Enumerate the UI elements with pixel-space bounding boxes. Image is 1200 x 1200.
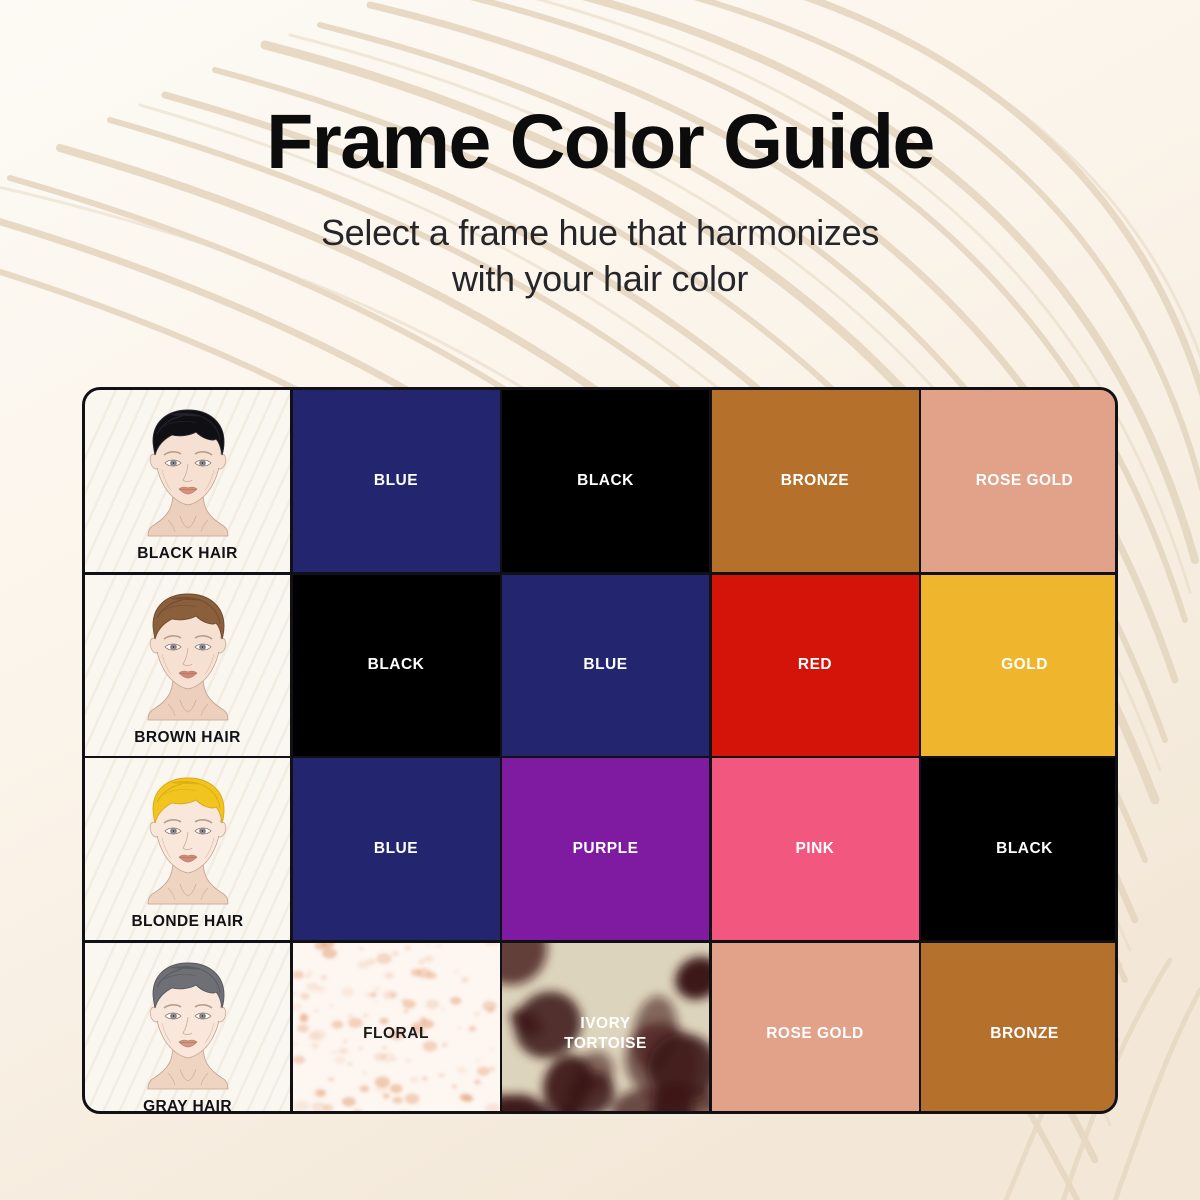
grid-body: BLACK HAIRBLUEBLACKBRONZEROSE GOLD (85, 390, 1115, 1111)
subtitle-line-1: Select a frame hue that harmonizes (321, 212, 879, 253)
hair-type-label: BROWN HAIR (134, 729, 240, 747)
frame-color-swatch-bronze[interactable]: BRONZE (712, 390, 919, 572)
swatch-label: BLUE (374, 839, 418, 858)
face-illustration (124, 772, 252, 911)
face-illustration (124, 588, 252, 727)
frame-color-swatch-ivory-tortoise[interactable]: IVORYTORTOISE (502, 943, 709, 1115)
face-illustration (124, 957, 252, 1096)
swatch-label: BLACK (577, 471, 634, 490)
swatch-label: BLUE (583, 655, 627, 674)
frame-color-swatch-purple[interactable]: PURPLE (502, 758, 709, 940)
swatch-label: BLUE (374, 471, 418, 490)
subtitle-line-2: with your hair color (452, 258, 748, 299)
swatch-label: IVORYTORTOISE (564, 1014, 647, 1053)
frame-color-swatch-gold[interactable]: GOLD (921, 575, 1118, 756)
swatch-label: ROSE GOLD (766, 1024, 864, 1043)
hair-type-label: GRAY HAIR (143, 1098, 232, 1115)
page-title: Frame Color Guide (0, 0, 1200, 181)
swatch-label: BLACK (368, 655, 425, 674)
frame-color-swatch-rose-gold[interactable]: ROSE GOLD (921, 390, 1118, 572)
frame-color-swatch-blue[interactable]: BLUE (293, 390, 500, 572)
page-subtitle: Select a frame hue that harmonizes with … (0, 181, 1200, 302)
swatch-label: RED (798, 655, 832, 674)
swatch-label: PINK (795, 839, 834, 858)
hair-type-label: BLONDE HAIR (131, 913, 243, 931)
hair-type-cell-black-hair: BLACK HAIR (85, 390, 290, 572)
swatch-label: PURPLE (573, 839, 639, 858)
face-illustration (124, 404, 252, 543)
swatch-label: FLORAL (363, 1024, 429, 1043)
frame-color-swatch-black[interactable]: BLACK (502, 390, 709, 572)
page-header: Frame Color Guide Select a frame hue tha… (0, 0, 1200, 302)
frame-color-swatch-floral[interactable]: FLORAL (293, 943, 500, 1115)
hair-type-cell-brown-hair: BROWN HAIR (85, 575, 290, 756)
swatch-label: BRONZE (990, 1024, 1058, 1043)
frame-color-swatch-blue[interactable]: BLUE (502, 575, 709, 756)
frame-color-guide-grid: BLACK HAIRBLUEBLACKBRONZEROSE GOLD (82, 387, 1118, 1114)
frame-color-swatch-black[interactable]: BLACK (293, 575, 500, 756)
hair-type-label: BLACK HAIR (137, 545, 237, 563)
frame-color-swatch-rose-gold[interactable]: ROSE GOLD (712, 943, 919, 1115)
frame-color-swatch-pink[interactable]: PINK (712, 758, 919, 940)
frame-color-swatch-red[interactable]: RED (712, 575, 919, 756)
swatch-label: GOLD (1001, 655, 1048, 674)
swatch-label: BLACK (996, 839, 1053, 858)
swatch-label: ROSE GOLD (976, 471, 1074, 490)
hair-type-cell-blonde-hair: BLONDE HAIR (85, 758, 290, 940)
frame-color-swatch-bronze[interactable]: BRONZE (921, 943, 1118, 1115)
swatch-label: BRONZE (781, 471, 849, 490)
hair-type-cell-gray-hair: GRAY HAIR (85, 943, 290, 1115)
frame-color-swatch-black[interactable]: BLACK (921, 758, 1118, 940)
frame-color-swatch-blue[interactable]: BLUE (293, 758, 500, 940)
